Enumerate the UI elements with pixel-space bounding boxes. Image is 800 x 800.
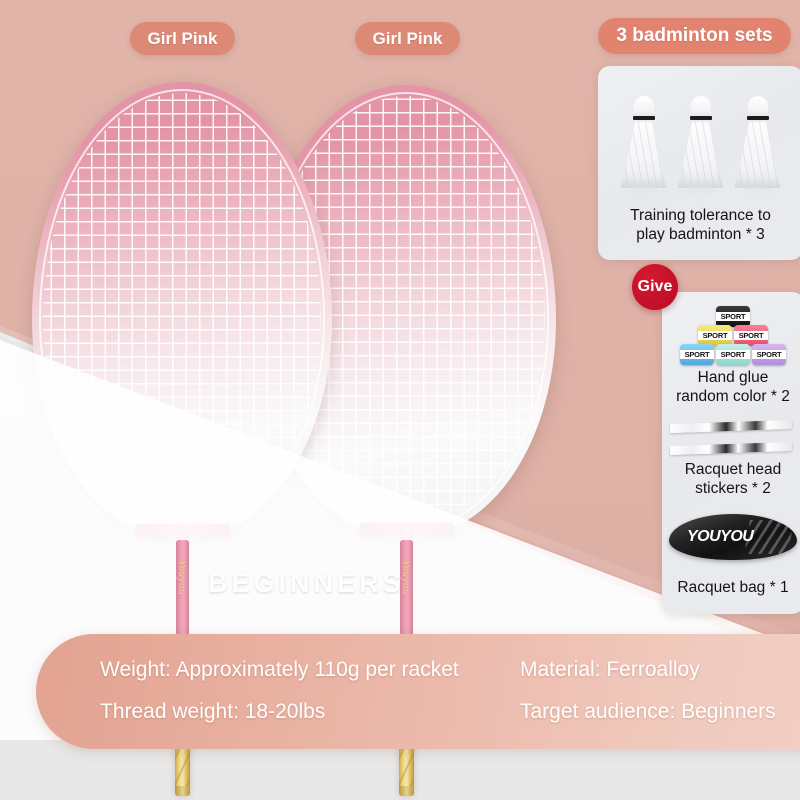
sticker-caption: Racquet head stickers * 2 (662, 460, 800, 498)
specs-row-1: Weight: Approximately 110g per racket Ma… (100, 650, 800, 690)
specs-panel: Weight: Approximately 110g per racket Ma… (36, 634, 800, 749)
racquet-bag-logo: YOUYOU (687, 528, 753, 546)
shuttlecock-icon (621, 96, 667, 188)
hand-glue-caption: Hand glue random color * 2 (662, 368, 800, 406)
racket-front-grip-cap-front (175, 786, 190, 796)
specs-row-2: Thread weight: 18-20lbs Target audience:… (100, 692, 800, 732)
shuttlecock-caption-line1: Training tolerance to (598, 206, 800, 225)
grip-tape-icon: SPORT SPORT SPORT SPORT SPORT SPORT (679, 306, 787, 368)
spec-audience: Target audience: Beginners (520, 700, 800, 724)
grip-tape-roll-red: SPORT (734, 325, 768, 346)
variant-badge-girl-pink-2: Girl Pink (355, 22, 460, 55)
racket-front-head (32, 82, 332, 538)
badge-badminton-sets: 3 badminton sets (598, 18, 791, 54)
product-image-canvas: Youyou Youyou Youyou Youyou BEGINNERS Gi… (0, 0, 800, 800)
gift-hand-glue: SPORT SPORT SPORT SPORT SPORT SPORT Hand… (662, 306, 800, 406)
bag-caption-line1: Racquet bag * 1 (662, 578, 800, 597)
racket-front-shaft-script-lower: Youyou (176, 560, 188, 595)
spec-weight: Weight: Approximately 110g per racket (100, 658, 520, 682)
gift-racquet-stickers: Racquet head stickers * 2 (662, 420, 800, 498)
racquet-bag-icon: YOUYOU (662, 514, 800, 568)
spec-thread-weight: Thread weight: 18-20lbs (100, 700, 520, 724)
card-gift-items: SPORT SPORT SPORT SPORT SPORT SPORT Hand… (662, 292, 800, 614)
hand-glue-caption-line2: random color * 2 (662, 387, 800, 406)
variant-badge-girl-pink-1: Girl Pink (130, 22, 235, 55)
shuttlecock-caption-line2: play badminton * 3 (598, 225, 800, 244)
racquet-sticker-icon (662, 420, 800, 460)
shuttlecock-row (598, 80, 800, 188)
grip-tape-roll-yellow: SPORT (698, 325, 732, 346)
hand-glue-caption-line1: Hand glue (662, 368, 800, 387)
grip-tape-roll-black: SPORT (716, 306, 750, 327)
grip-tape-roll-teal: SPORT (716, 344, 750, 365)
sticker-caption-line1: Racquet head (662, 460, 800, 479)
grip-tape-roll-blue: SPORT (680, 344, 714, 365)
racket-back-grip-cap-front (399, 786, 414, 796)
spec-material: Material: Ferroalloy (520, 658, 800, 682)
shuttlecock-icon (678, 96, 724, 188)
gift-racquet-bag: YOUYOU Racquet bag * 1 (662, 514, 800, 597)
shuttlecock-icon (735, 96, 781, 188)
shuttlecock-caption: Training tolerance to play badminton * 3 (598, 206, 800, 244)
give-badge: Give (632, 264, 678, 310)
racket-front-strings (43, 93, 321, 527)
grip-tape-roll-purple: SPORT (752, 344, 786, 365)
beginners-watermark: BEGINNERS (208, 568, 405, 599)
card-shuttlecocks: Training tolerance to play badminton * 3 (598, 66, 800, 260)
sticker-caption-line2: stickers * 2 (662, 479, 800, 498)
bag-caption: Racquet bag * 1 (662, 578, 800, 597)
